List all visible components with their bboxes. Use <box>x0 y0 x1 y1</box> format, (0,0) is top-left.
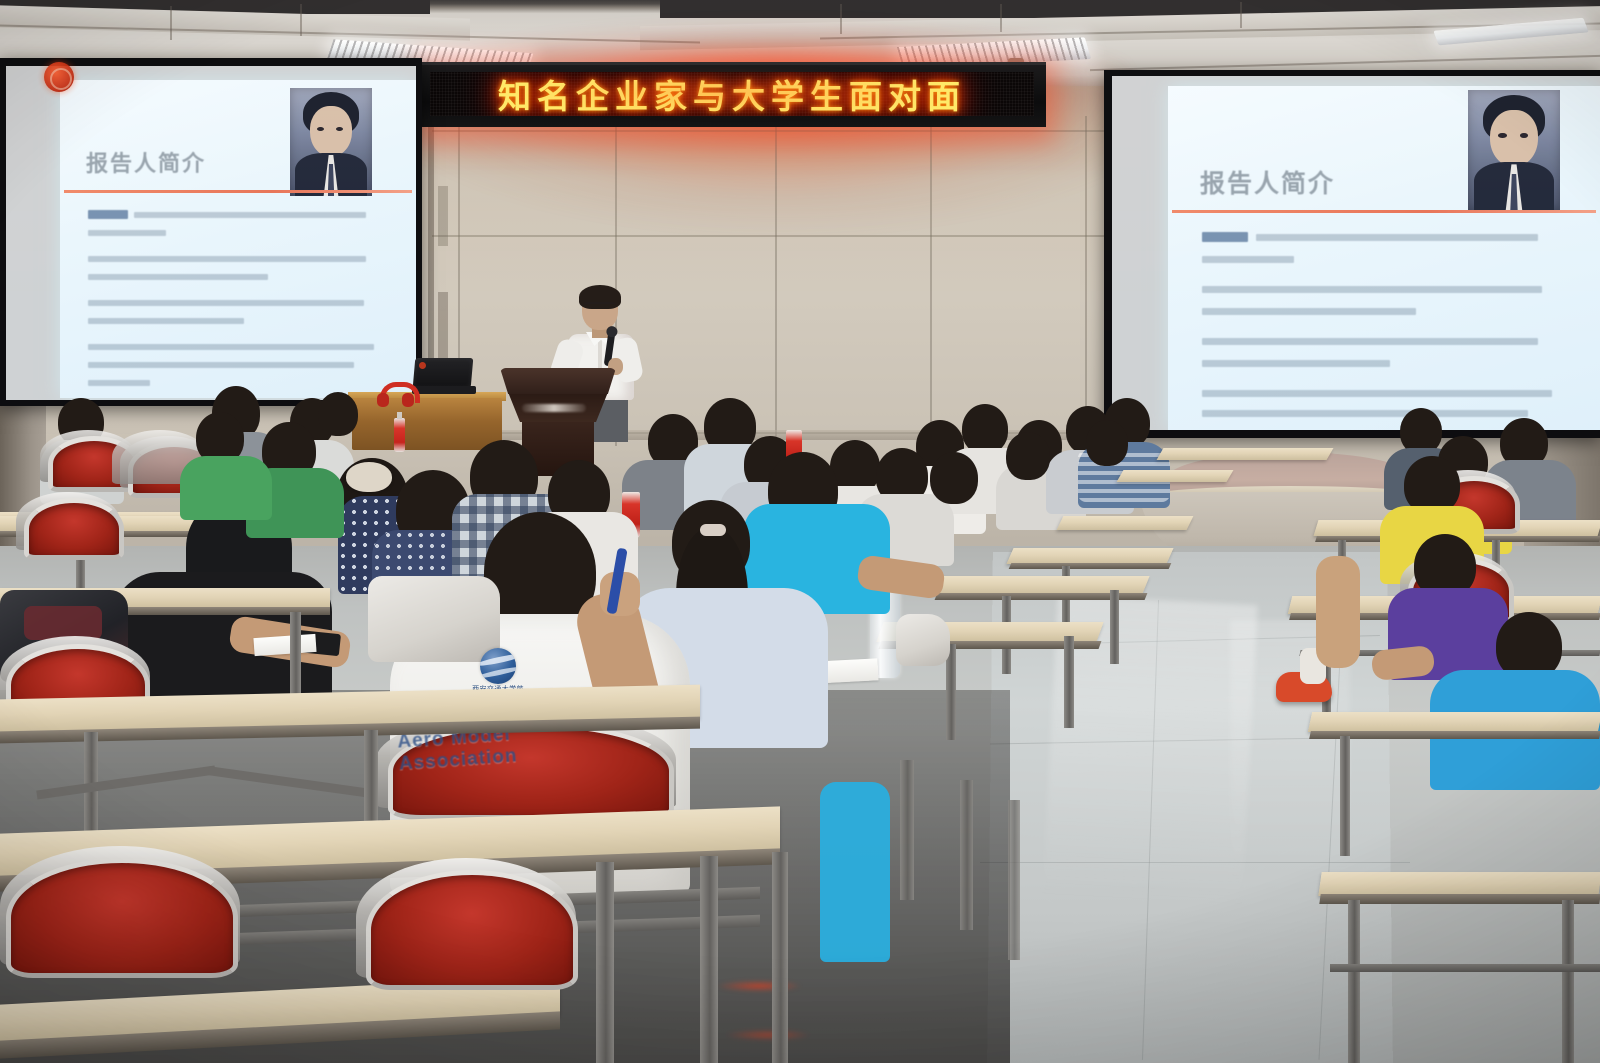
desk-leg <box>772 852 788 1063</box>
portrait-eye-left <box>1498 133 1506 138</box>
student-head <box>1086 420 1128 466</box>
desk-edge <box>1009 563 1172 569</box>
portrait-face <box>1490 110 1538 166</box>
left-slide: 报告人简介 <box>60 80 416 398</box>
right-screen-surface: 报告人简介 <box>1112 76 1600 430</box>
desk-far-right <box>1157 448 1334 460</box>
student-head <box>1006 432 1050 480</box>
podium-desk-top <box>500 368 616 394</box>
portrait-face <box>310 106 353 157</box>
slide-text-line <box>1202 286 1542 293</box>
desk-leg <box>1348 900 1360 1063</box>
slide-text-line <box>88 344 374 350</box>
wall-seam-v4 <box>1085 116 1087 436</box>
slide-text-line <box>88 318 244 324</box>
desk-leg <box>1110 590 1119 664</box>
crumpled-tissue <box>896 614 950 666</box>
slide-text-line <box>1202 338 1538 345</box>
student-head <box>930 452 978 504</box>
slide-text-line <box>1202 410 1528 417</box>
slide-text-line <box>134 212 366 218</box>
laptop-keyboard-base <box>412 386 476 394</box>
slide-text-line <box>1202 390 1552 397</box>
desk-edge <box>1309 731 1600 739</box>
desk-right-4 <box>1318 872 1600 896</box>
portrait-eye-right <box>1520 133 1528 138</box>
headphone-cup-left <box>377 393 389 407</box>
slide-speaker-name-left <box>88 210 128 219</box>
slide-text-line <box>1202 308 1416 315</box>
slide-rule-left <box>64 190 412 193</box>
desk-leg <box>596 862 614 1063</box>
desk-center-far <box>1057 516 1194 530</box>
student-head <box>962 404 1008 454</box>
globe-icon <box>480 648 516 684</box>
slide-text-line <box>88 274 268 280</box>
desk-far-right-2 <box>1117 470 1234 482</box>
wall-panel-edge <box>438 292 448 358</box>
backpack-strap <box>24 606 102 640</box>
student-leg <box>1316 556 1360 668</box>
desk-leg <box>1562 900 1574 1063</box>
slide-portrait-photo-left <box>290 88 372 196</box>
desk-right-3 <box>1308 712 1600 732</box>
wall-panel-edge-2 <box>438 186 448 246</box>
chair-fg-center <box>366 870 578 990</box>
glasses-icon <box>584 302 616 311</box>
right-projection-screen: 报告人简介 <box>1104 70 1600 438</box>
chair-fg-left <box>6 858 238 978</box>
left-projection-screen: 报告人简介 <box>0 58 422 406</box>
desk-leg <box>960 780 973 930</box>
water-bottle-red-label <box>394 418 405 452</box>
ceiling-seam-v1 <box>170 6 172 40</box>
podium-reading-light <box>522 404 586 412</box>
ceiling-seam-v5 <box>1240 2 1242 28</box>
desk-leg <box>1340 736 1350 856</box>
slide-text-line <box>1202 256 1294 263</box>
slide-text-line <box>88 380 150 386</box>
side-table <box>352 398 502 450</box>
desk-leg <box>700 856 718 1063</box>
slide-text-line <box>1202 360 1390 367</box>
slide-portrait-photo-right <box>1468 90 1560 210</box>
hair-bow <box>346 462 392 492</box>
student-green-tshirt-2 <box>180 456 272 520</box>
student-cyan-shoulder-fg <box>820 782 890 962</box>
ceiling-seam-v2 <box>300 4 302 36</box>
desk-edge <box>1319 894 1600 904</box>
slide-text-line <box>1256 234 1538 241</box>
desk-leg <box>1008 800 1020 960</box>
headphones-icon <box>378 382 412 406</box>
wall-seam-v3 <box>930 116 932 446</box>
slide-text-line <box>88 230 166 236</box>
slide-title-left: 报告人简介 <box>86 146 206 178</box>
right-slide: 报告人简介 <box>1168 86 1600 430</box>
slide-text-line <box>88 362 354 368</box>
hair-tie <box>700 524 726 536</box>
slide-title-right: 报告人简介 <box>1200 164 1335 200</box>
student-head <box>318 392 358 436</box>
chair-left-1 <box>24 498 124 560</box>
desk-center-far-2 <box>1006 548 1173 564</box>
slide-text-line <box>88 300 364 306</box>
led-floor-reflection <box>718 1028 818 1042</box>
desk-leg <box>1064 636 1074 728</box>
desk-rail <box>1330 964 1600 972</box>
laptop-logo-icon <box>419 362 426 369</box>
headphone-cup-right <box>402 393 414 407</box>
slide-text-line <box>88 256 366 262</box>
left-screen-surface: 报告人简介 <box>6 66 416 400</box>
wall-seam-h2 <box>432 130 1132 132</box>
lecture-hall-photo: 知名企业家与大学生面对面 报告人简介 <box>0 0 1600 1063</box>
desk-leg <box>900 760 914 900</box>
wall-seam-h1 <box>432 235 1132 237</box>
university-emblem-icon <box>44 62 74 92</box>
led-banner-text: 知名企业家与大学生面对面 <box>430 72 1034 116</box>
slide-speaker-name-right <box>1202 232 1248 242</box>
led-banner-panel: 知名企业家与大学生面对面 <box>430 72 1034 116</box>
slide-rule-right <box>1172 210 1596 213</box>
wall-seam-v2 <box>775 116 777 446</box>
